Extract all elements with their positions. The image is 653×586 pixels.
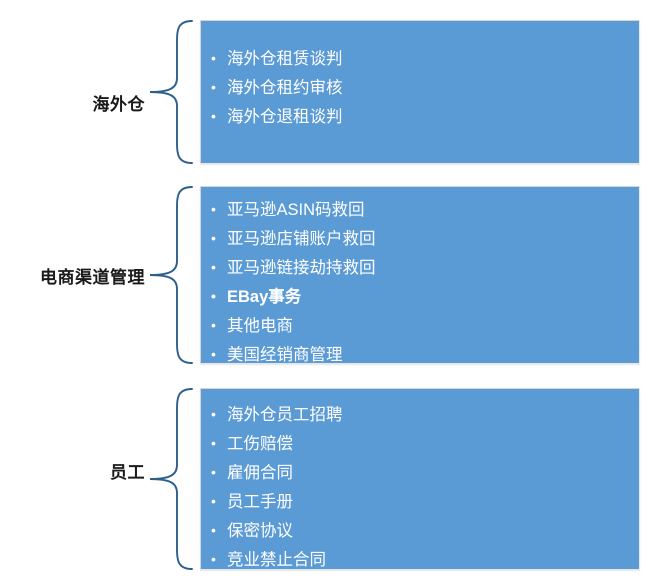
bracket-list-diagram: 海外仓 海外仓租赁谈判 海外仓租约审核 海外仓退租谈判 电商渠道管理 亚马逊AS… bbox=[0, 0, 653, 586]
list-item: 海外仓租约审核 bbox=[209, 74, 639, 103]
list-item: 员工手册 bbox=[209, 488, 639, 517]
curly-brace-icon-0 bbox=[148, 18, 194, 166]
group-label-1: 电商渠道管理 bbox=[0, 269, 145, 288]
list-item: EBay事务 bbox=[209, 283, 639, 312]
panel-list-1: 亚马逊ASIN码救回 亚马逊店铺账户救回 亚马逊链接劫持救回 EBay事务 其他… bbox=[209, 196, 639, 364]
list-item: 雇佣合同 bbox=[209, 459, 639, 488]
curly-brace-icon-2 bbox=[148, 386, 194, 572]
diagram-group-dian-shang-qu-dao-guan-li: 电商渠道管理 亚马逊ASIN码救回 亚马逊店铺账户救回 亚马逊链接劫持救回 EB… bbox=[0, 184, 653, 366]
list-item: 海外仓员工招聘 bbox=[209, 401, 639, 430]
diagram-group-hai-wai-cang: 海外仓 海外仓租赁谈判 海外仓租约审核 海外仓退租谈判 bbox=[0, 18, 653, 166]
list-item: 亚马逊链接劫持救回 bbox=[209, 254, 639, 283]
list-item: 海外仓退租谈判 bbox=[209, 103, 639, 132]
panel-2: 海外仓员工招聘 工伤赔偿 雇佣合同 员工手册 保密协议 竞业禁止合同 bbox=[200, 388, 640, 570]
diagram-group-yuan-gong: 员工 海外仓员工招聘 工伤赔偿 雇佣合同 员工手册 保密协议 竞业禁止合同 bbox=[0, 386, 653, 572]
list-item: 保密协议 bbox=[209, 517, 639, 546]
list-item: 美国经销商管理 bbox=[209, 341, 639, 364]
list-item: 竞业禁止合同 bbox=[209, 546, 639, 570]
list-item: 亚马逊店铺账户救回 bbox=[209, 225, 639, 254]
group-label-0: 海外仓 bbox=[0, 96, 145, 115]
list-item: 其他电商 bbox=[209, 312, 639, 341]
list-item: 工伤赔偿 bbox=[209, 430, 639, 459]
group-label-2: 员工 bbox=[0, 464, 145, 483]
list-item: 海外仓租赁谈判 bbox=[209, 45, 639, 74]
panel-1: 亚马逊ASIN码救回 亚马逊店铺账户救回 亚马逊链接劫持救回 EBay事务 其他… bbox=[200, 186, 640, 364]
curly-brace-icon-1 bbox=[148, 184, 194, 366]
panel-list-0: 海外仓租赁谈判 海外仓租约审核 海外仓退租谈判 bbox=[209, 45, 639, 132]
panel-0: 海外仓租赁谈判 海外仓租约审核 海外仓退租谈判 bbox=[200, 20, 640, 164]
panel-list-2: 海外仓员工招聘 工伤赔偿 雇佣合同 员工手册 保密协议 竞业禁止合同 bbox=[209, 401, 639, 570]
list-item: 亚马逊ASIN码救回 bbox=[209, 196, 639, 225]
